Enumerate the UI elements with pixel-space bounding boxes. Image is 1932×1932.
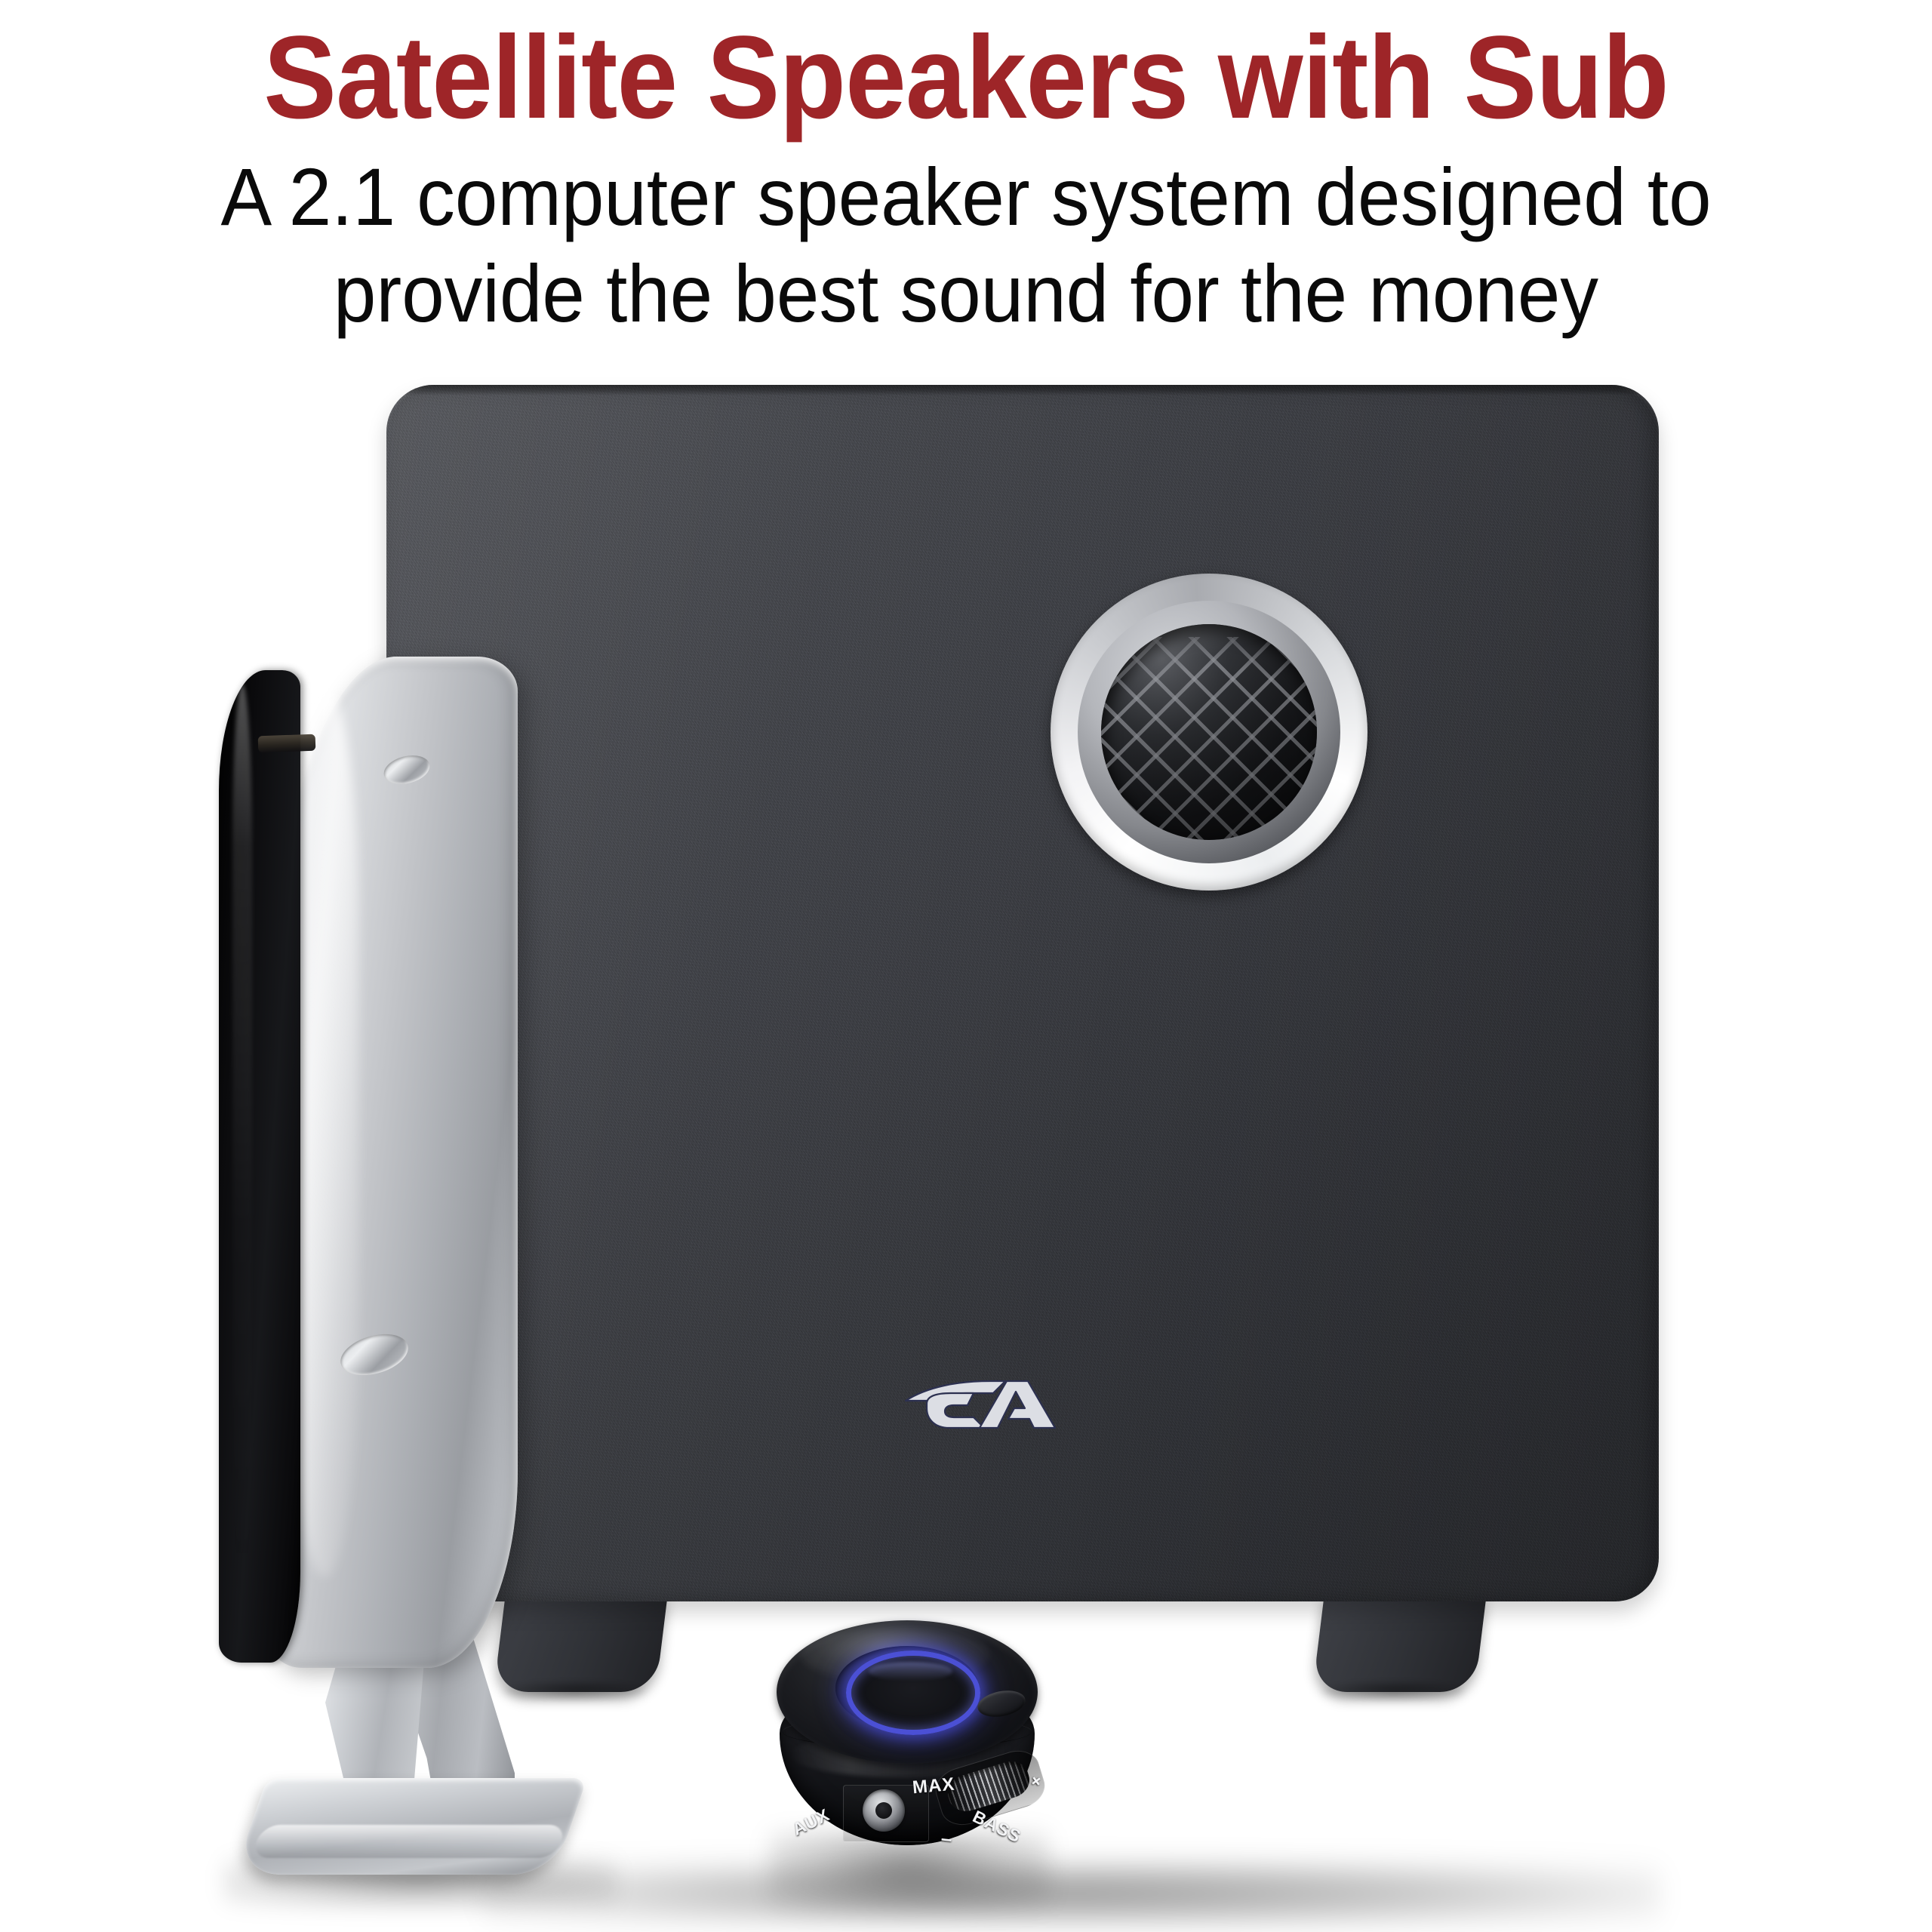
satellite-speaker — [178, 657, 601, 1894]
page-subtitle: A 2.1 computer speaker system designed t… — [58, 138, 1874, 341]
product-scene: AUX MAX BASS + – — [0, 355, 1932, 1932]
subwoofer-foot-right — [1312, 1592, 1487, 1692]
max-label: MAX — [912, 1774, 956, 1799]
headline-block: Satellite Speakers with Sub A 2.1 comput… — [0, 0, 1932, 341]
bass-decrease-label: – — [940, 1826, 954, 1850]
bass-port — [1051, 574, 1367, 891]
scene-ground — [0, 1849, 1932, 1932]
page-title: Satellite Speakers with Sub — [68, 0, 1865, 138]
bass-port-shading — [1101, 624, 1317, 840]
satellite-baffle-gloss — [232, 684, 252, 1589]
subwoofer-top-edge — [386, 385, 1659, 395]
satellite-tweeter-slot — [258, 734, 316, 753]
bass-port-tunnel — [1101, 624, 1317, 840]
satellite-front-baffle — [219, 670, 300, 1663]
volume-knob[interactable] — [846, 1651, 980, 1735]
ca-brand-logo-icon — [901, 1375, 1060, 1432]
headphone-jack[interactable] — [863, 1789, 905, 1832]
product-hero-image: Satellite Speakers with Sub A 2.1 comput… — [0, 0, 1932, 1932]
